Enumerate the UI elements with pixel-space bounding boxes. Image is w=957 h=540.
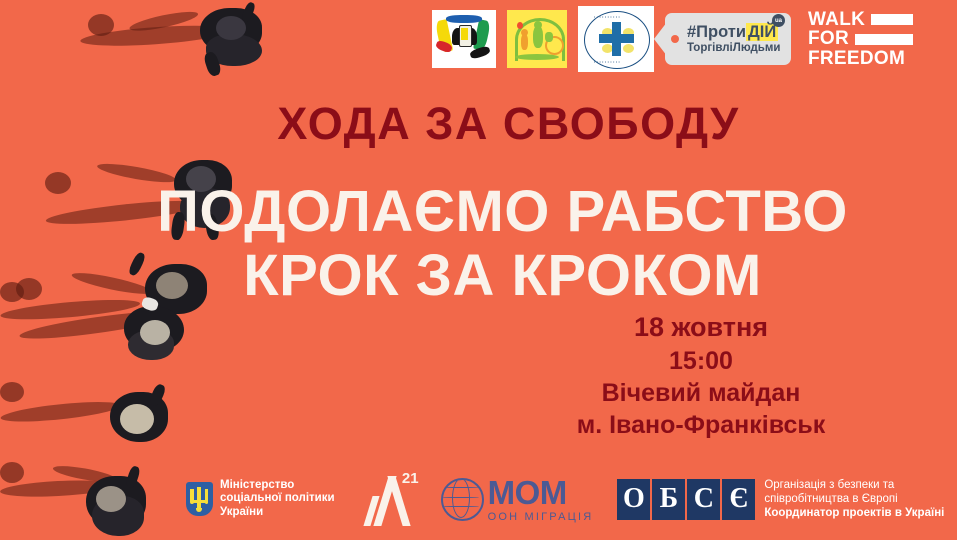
osce-letter: О [617, 479, 650, 520]
wff-bar-icon [871, 14, 913, 25]
ministry-line-3: України [220, 506, 335, 519]
event-time: 15:00 [491, 345, 911, 377]
tag-hole-icon [671, 35, 679, 43]
partner-logo-strip-top: • • • • • • • • • • • • • • • • • • • • … [432, 6, 913, 72]
ministry-line-2: соціальної політики [220, 492, 335, 505]
osce-letter: Є [722, 479, 755, 520]
ua-badge: ua [772, 14, 785, 27]
wff-bar-icon [855, 34, 913, 45]
family-social-services-logo-icon [507, 10, 567, 68]
osce-line-2: співробітництва в Європі [764, 492, 944, 506]
walk-for-freedom-logo: WALK FOR FREEDOM [808, 10, 913, 69]
iom-un-migration-logo: МОМ ООН МІГРАЦІЯ [441, 476, 594, 523]
tag-line1-prefix: #Проти [687, 23, 746, 41]
wff-line3: FREEDOM [808, 49, 905, 69]
headline-line-1: ПОДОЛАЄМО РАБСТВО [48, 180, 957, 244]
event-date: 18 жовтня [491, 310, 911, 345]
poster-headline: ПОДОЛАЄМО РАБСТВО КРОК ЗА КРОКОМ [0, 180, 957, 308]
a21-superscript: 21 [402, 470, 419, 487]
iom-subtitle: ООН МІГРАЦІЯ [488, 512, 594, 523]
caritas-ukraine-logo-icon: • • • • • • • • • • • • • • • • • • • • [578, 6, 654, 72]
osce-letter: С [687, 479, 720, 520]
headline-line-2: КРОК ЗА КРОКОМ [48, 244, 957, 308]
osce-logo: О Б С Є Організація з безпеки та співроб… [617, 478, 944, 521]
wff-line2: FOR [808, 29, 849, 49]
ivano-frankivsk-region-emblem-icon [432, 10, 496, 68]
anti-trafficking-campaign-tag: #ПротиДІЙ ТоргівліЛюдьми ua [665, 13, 791, 65]
event-details: 18 жовтня 15:00 Вічевий майдан м. Івано-… [491, 310, 911, 441]
partner-logo-strip-bottom: Міністерство соціальної політики України… [186, 472, 944, 526]
wff-line1: WALK [808, 10, 865, 30]
osce-line-1: Організація з безпеки та [764, 478, 944, 492]
globe-icon [441, 478, 484, 521]
osce-letter: Б [652, 479, 685, 520]
event-poster: • • • • • • • • • • • • • • • • • • • • … [0, 0, 957, 540]
tag-line2: ТоргівліЛюдьми [687, 43, 780, 55]
event-city: м. Івано-Франківськ [491, 409, 911, 441]
osce-line-3: Координатор проектів в Україні [764, 506, 944, 520]
iom-acronym: МОМ [488, 476, 594, 509]
a21-logo: 21 [359, 472, 417, 526]
ministry-line-1: Міністерство [220, 479, 335, 492]
ministry-of-social-policy-logo: Міністерство соціальної політики України [186, 479, 335, 519]
poster-kicker: ХОДА ЗА СВОБОДУ [0, 101, 957, 146]
event-place: Вічевий майдан [491, 377, 911, 409]
ukraine-trident-shield-icon [186, 482, 213, 516]
